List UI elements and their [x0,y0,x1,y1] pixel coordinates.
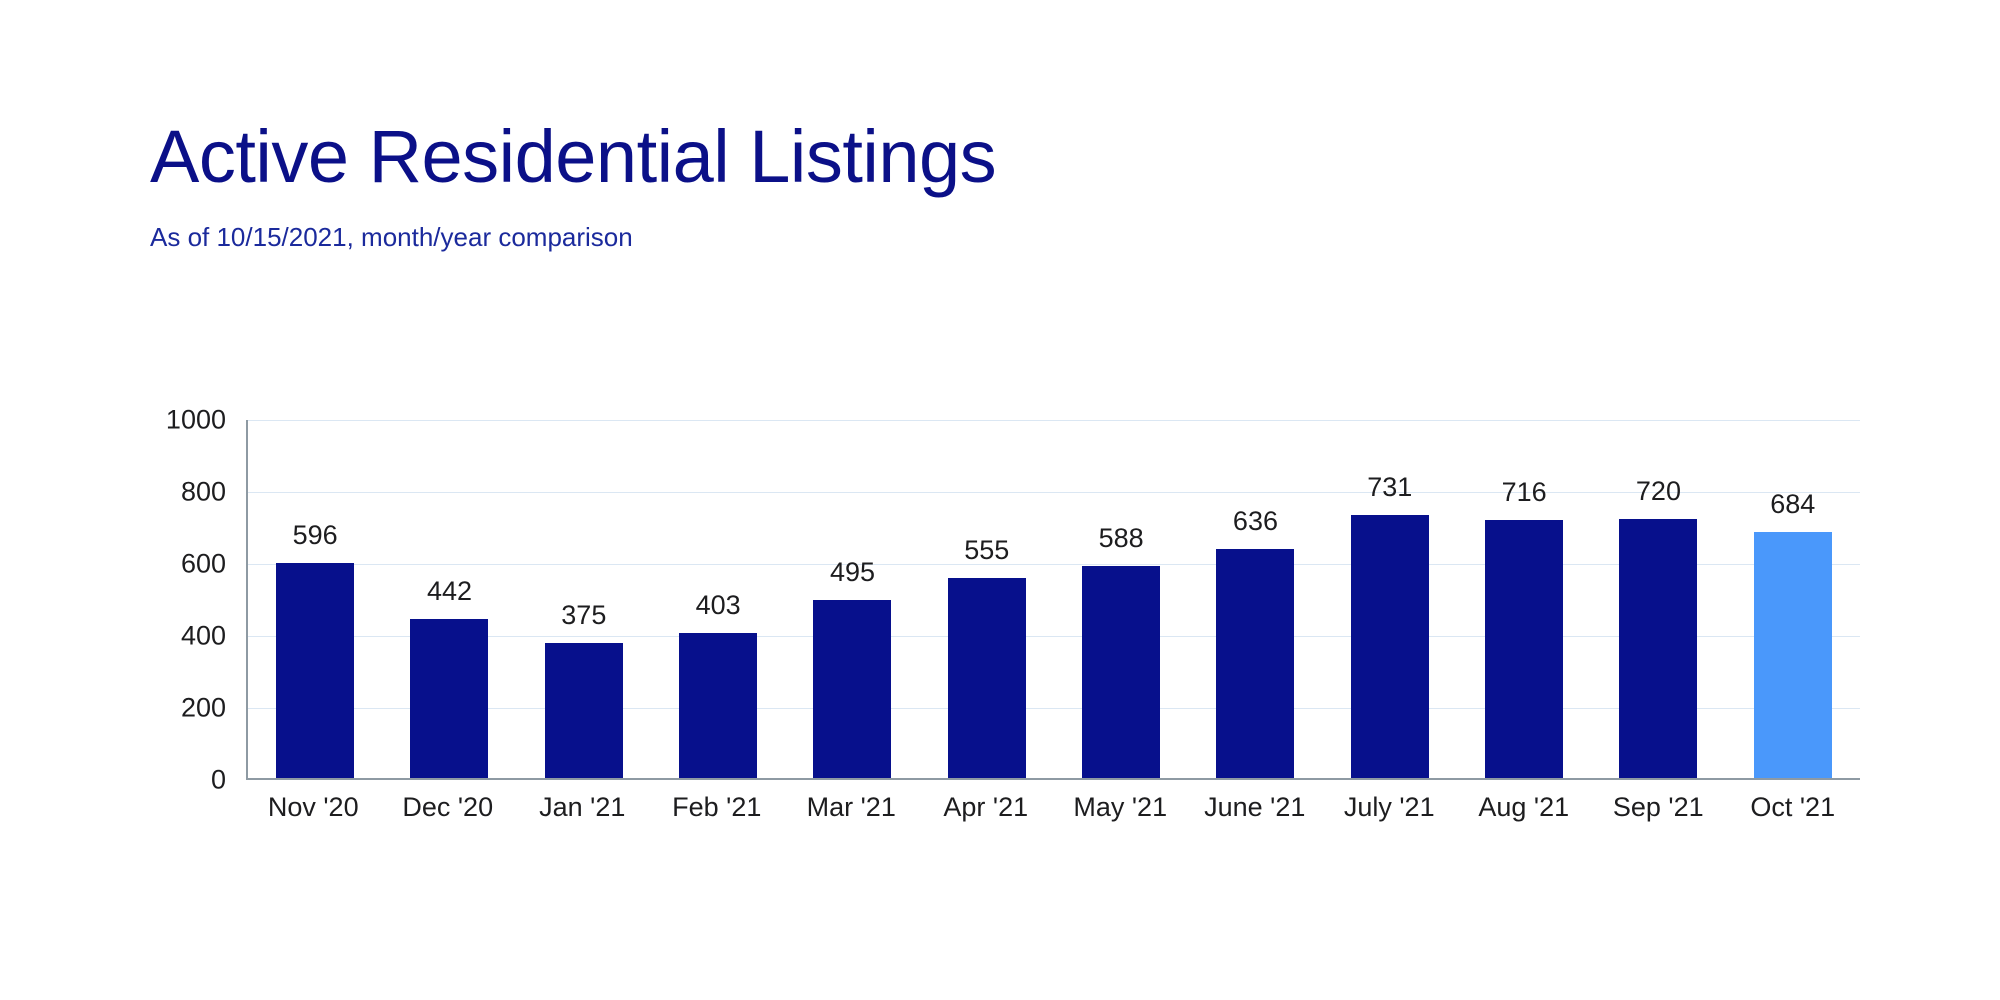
x-tick-label: July '21 [1322,794,1457,821]
bar-value-label: 716 [1502,479,1547,506]
bar-series: 596442375403495555588636731716720684 [248,420,1860,778]
y-tick-label: 0 [211,767,226,794]
bar[interactable] [545,643,623,778]
x-tick-label: Dec '20 [381,794,516,821]
x-axis: Nov '20Dec '20Jan '21Feb '21Mar '21Apr '… [246,794,1860,821]
bar-value-label: 403 [696,592,741,619]
bar-slot: 636 [1188,420,1322,778]
bar[interactable] [1351,515,1429,778]
bar-value-label: 636 [1233,508,1278,535]
bar-value-label: 495 [830,559,875,586]
bar[interactable] [679,633,757,778]
y-tick-label: 200 [181,695,226,722]
bar-value-label: 596 [293,522,338,549]
bar[interactable] [1619,519,1697,778]
x-tick-label: May '21 [1053,794,1188,821]
x-tick-label: Feb '21 [650,794,785,821]
x-tick-label: June '21 [1188,794,1323,821]
slide-canvas: Active Residential Listings As of 10/15/… [0,0,2000,1000]
bar-slot: 555 [920,420,1054,778]
bar-value-label: 442 [427,578,472,605]
y-tick-label: 600 [181,551,226,578]
bar-slot: 731 [1323,420,1457,778]
x-tick-label: Sep '21 [1591,794,1726,821]
bar[interactable] [410,619,488,778]
x-tick-label: Oct '21 [1726,794,1861,821]
y-tick-label: 1000 [166,407,226,434]
y-axis: 02004006008001000 [150,420,236,780]
x-tick-label: Jan '21 [515,794,650,821]
bar[interactable] [1485,520,1563,778]
bar-slot: 684 [1726,420,1860,778]
bar[interactable] [1216,549,1294,778]
y-tick-label: 800 [181,479,226,506]
bar-slot: 495 [785,420,919,778]
bar[interactable] [276,563,354,778]
x-tick-label: Aug '21 [1457,794,1592,821]
bar-value-label: 375 [561,602,606,629]
plot-area: 596442375403495555588636731716720684 [246,420,1860,780]
y-tick-label: 400 [181,623,226,650]
bar-slot: 442 [382,420,516,778]
bar-slot: 716 [1457,420,1591,778]
bar-value-label: 555 [964,537,1009,564]
x-tick-label: Mar '21 [784,794,919,821]
bar-slot: 588 [1054,420,1188,778]
x-tick-label: Apr '21 [919,794,1054,821]
bar-value-label: 684 [1770,491,1815,518]
bar[interactable] [1754,532,1832,778]
chart-header: Active Residential Listings As of 10/15/… [150,120,1850,253]
chart-subtitle: As of 10/15/2021, month/year comparison [150,194,1850,253]
x-tick-label: Nov '20 [246,794,381,821]
bar-slot: 403 [651,420,785,778]
bar-value-label: 588 [1099,525,1144,552]
bar[interactable] [948,578,1026,778]
bar-slot: 720 [1591,420,1725,778]
bar-slot: 375 [517,420,651,778]
page-title: Active Residential Listings [150,120,1850,194]
bar-value-label: 731 [1367,474,1412,501]
bar[interactable] [813,600,891,778]
bar-slot: 596 [248,420,382,778]
bar[interactable] [1082,566,1160,778]
bar-value-label: 720 [1636,478,1681,505]
bar-chart: 02004006008001000 5964423754034955555886… [150,420,1860,840]
